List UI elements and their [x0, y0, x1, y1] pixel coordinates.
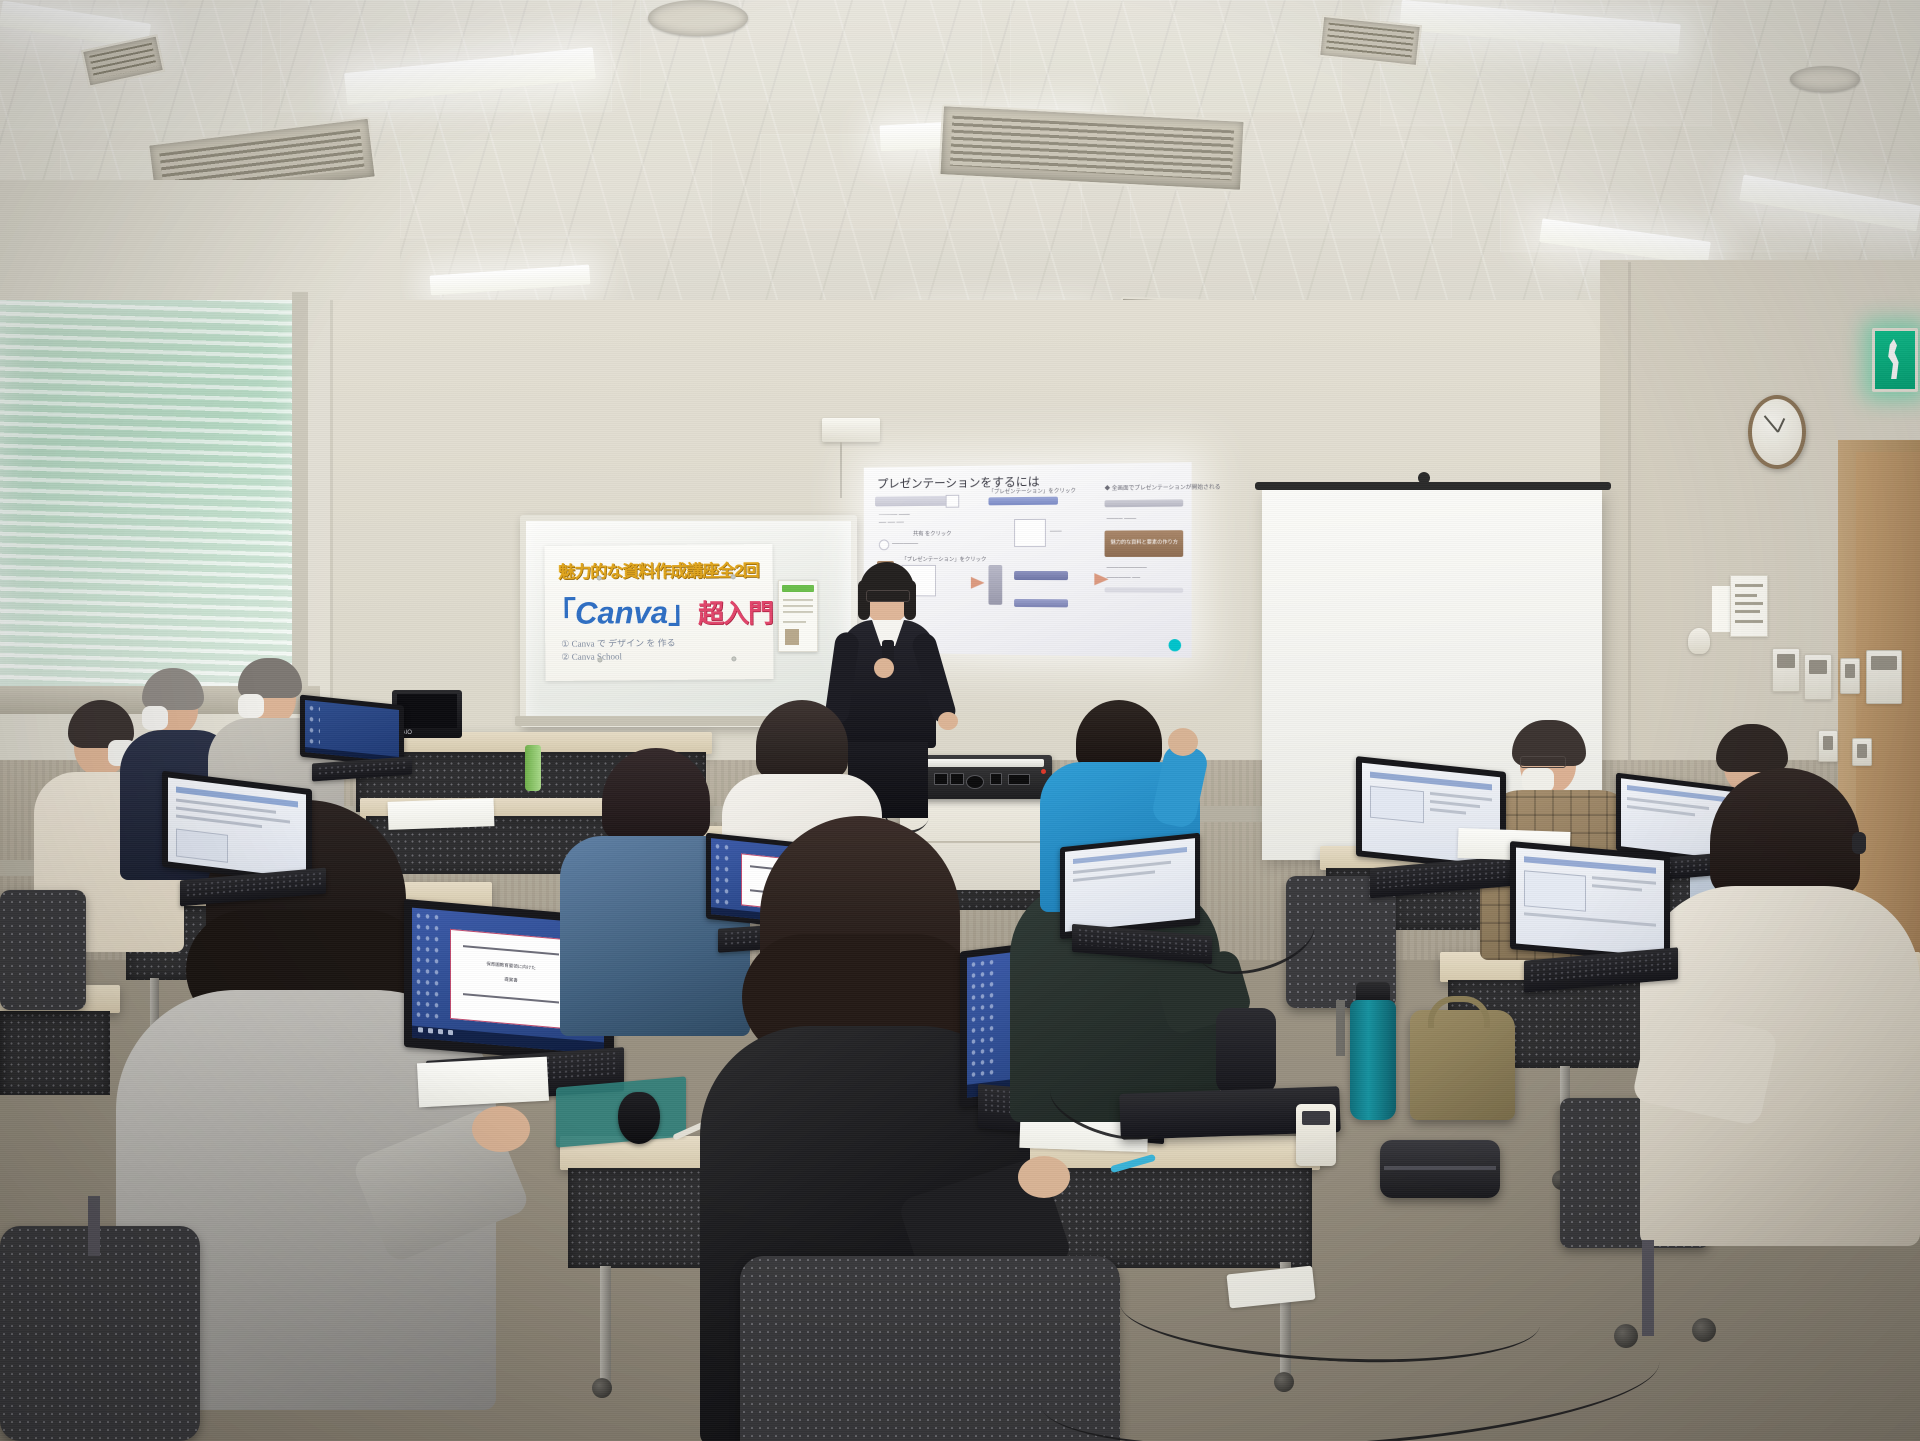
- chair-left-foreground[interactable]: [0, 1226, 200, 1441]
- classroom-photo: 魅力的な資料作成講座全2回 「Canva」超入門 ① Canva で デザイン …: [0, 0, 1920, 1441]
- slide-step3-banner: 魅力的な資料と要素の作り方: [1111, 538, 1178, 545]
- chair-left-mid[interactable]: [0, 890, 86, 1010]
- handwriting-line-2: ② Canva School: [561, 649, 757, 664]
- room-notice-sign: [1730, 575, 1768, 637]
- laptop-keyboard[interactable]: [1524, 947, 1678, 992]
- poster-bracket-open: 「: [545, 596, 575, 631]
- student-hair: [756, 700, 848, 778]
- poster-title-line1: 魅力的な資料作成講座全2回: [545, 556, 773, 583]
- wall-mounted-box: [822, 418, 880, 442]
- course-poster: 魅力的な資料作成講座全2回 「Canva」超入門 ① Canva で デザイン …: [544, 544, 773, 681]
- handout-paper: [388, 798, 495, 830]
- computer-mouse[interactable]: [618, 1092, 660, 1144]
- backpack[interactable]: [1216, 1008, 1276, 1094]
- face-mask-icon: [238, 694, 264, 718]
- instructor-hand-gesture: [938, 712, 958, 730]
- student-12: [1640, 768, 1920, 1288]
- wall-clock: [1748, 395, 1806, 469]
- laptop-keyboard[interactable]: [312, 757, 412, 782]
- desk-panel-far-left: [0, 1011, 110, 1095]
- window-with-blinds: [0, 300, 300, 690]
- outlet-plate[interactable]: [1840, 658, 1860, 694]
- laptop-left-back[interactable]: [162, 780, 342, 900]
- water-bottle-small[interactable]: [525, 745, 541, 791]
- student-hair: [1710, 768, 1860, 896]
- screen-top-bar: [1255, 482, 1611, 490]
- ceiling-light-panel: [429, 264, 590, 295]
- handout-paper: [417, 1057, 549, 1108]
- student-hand: [1018, 1156, 1070, 1198]
- slide-step1-caption: 共有 をクリック: [913, 529, 951, 537]
- control-panel[interactable]: [1866, 650, 1902, 704]
- student-hair-grey: [238, 658, 302, 698]
- poster-title-line2: 「Canva」超入門: [545, 586, 773, 633]
- light-switch-plate[interactable]: [1772, 648, 1800, 692]
- laptop-keyboard[interactable]: [1072, 924, 1212, 964]
- window-frame: [292, 292, 308, 702]
- tote-bag[interactable]: [1410, 1010, 1515, 1120]
- student-hand: [1168, 728, 1198, 756]
- screen-hook: [1418, 472, 1430, 484]
- slide-text-line1: 保育園教育要領に向けた: [451, 958, 571, 974]
- water-bottle[interactable]: [1350, 1000, 1396, 1120]
- laptop-left-back-2[interactable]: [300, 700, 420, 780]
- emergency-exit-icon: [1872, 328, 1918, 392]
- instructor-hand-chest: [874, 658, 894, 678]
- student-hair: [1076, 700, 1162, 768]
- face-mask-icon: [142, 706, 168, 730]
- ceiling-speaker: [1790, 66, 1860, 92]
- poster-handwriting: ① Canva で デザイン を 作る ② Canva School: [561, 636, 757, 664]
- laptop-keyboard[interactable]: [1370, 856, 1514, 899]
- outlet-plate[interactable]: [1852, 738, 1872, 766]
- poster-brand: Canva: [575, 595, 668, 631]
- presenter-remote[interactable]: [1296, 1104, 1336, 1166]
- canva-logo-icon: [1169, 639, 1182, 652]
- canva-slide-preview: 保育園教育要領に向けた 提案書: [450, 929, 572, 1030]
- accessory-case[interactable]: [1380, 1140, 1500, 1198]
- student-hair: [1716, 724, 1788, 772]
- laptop-right-front[interactable]: [1510, 848, 1700, 988]
- student-hand: [472, 1106, 530, 1152]
- slide-text-line2: 提案書: [451, 972, 571, 988]
- glasses-icon: [866, 590, 910, 602]
- wall-sensor-icon: [1688, 628, 1710, 654]
- poster-subtitle: 超入門: [698, 598, 773, 629]
- poster-bracket-close: 」: [668, 595, 698, 630]
- light-switch-plate[interactable]: [1804, 654, 1832, 700]
- student-hair-grey: [142, 668, 204, 710]
- student-hair: [602, 748, 710, 840]
- ceiling-speaker: [648, 0, 748, 36]
- earphone-icon: [1852, 832, 1866, 854]
- whiteboard-notice-card: [778, 580, 818, 652]
